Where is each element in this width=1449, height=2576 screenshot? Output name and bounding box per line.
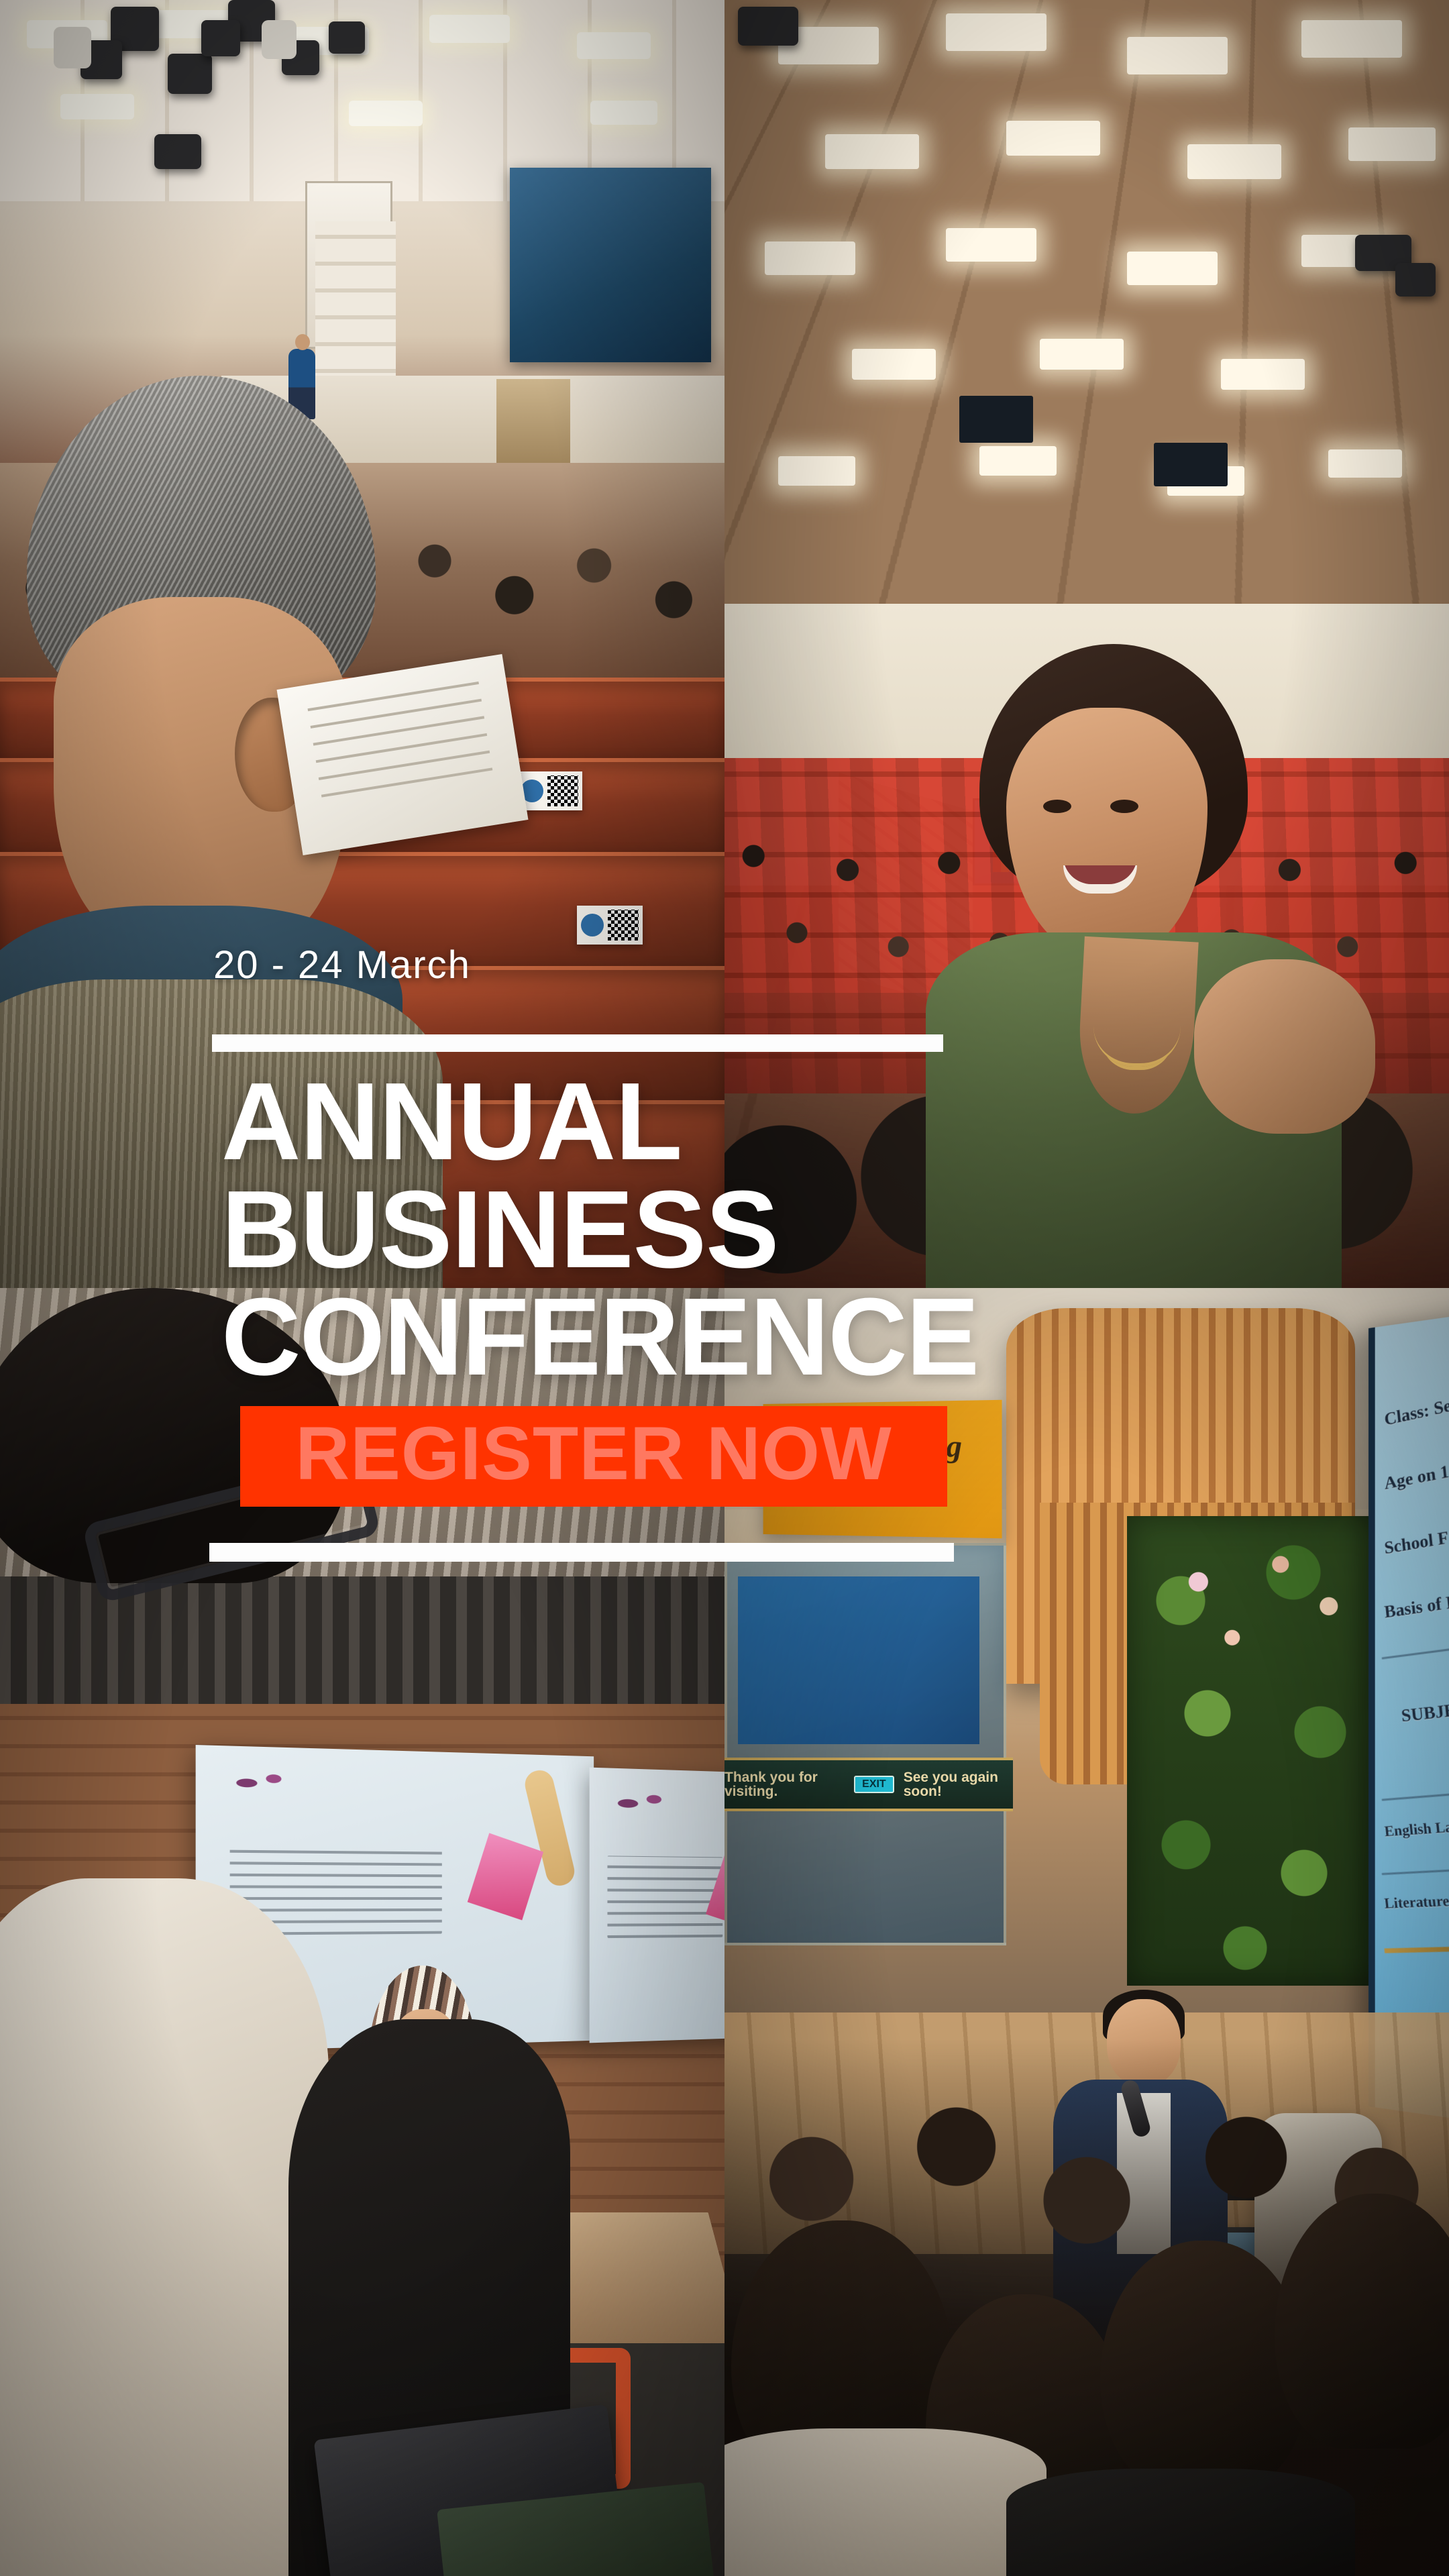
photo-top-right: 00:25:53 [724, 0, 1449, 1288]
printed-programme [277, 654, 529, 855]
info-board: Class: Sec. Age on 1st School Fees Basis… [1368, 1307, 1449, 2127]
exit-sign-icon: EXIT [854, 1776, 894, 1793]
seat-card [577, 906, 643, 945]
info-board-row: Literature [1383, 1893, 1449, 1911]
register-now-label: REGISTER NOW [295, 1416, 892, 1491]
projector-screen-secondary [590, 1768, 724, 2043]
info-board-row: School Fees [1383, 1525, 1449, 1557]
clapping-hands [1194, 959, 1375, 1134]
exit-signage-strip: Thank you for visiting. EXIT See you aga… [724, 1758, 1013, 1811]
stage-screen [510, 168, 711, 362]
exit-strip-left-text: Thank you for visiting. [724, 1770, 845, 1799]
exit-strip-right-text: See you again soon! [904, 1770, 1013, 1799]
info-board-row: English Languag [1384, 1817, 1449, 1839]
info-board-row: Class: Sec. [1383, 1394, 1449, 1429]
conference-poster: 00:25:53 [0, 0, 1449, 2576]
seat-card [517, 771, 582, 810]
photo-collage: 00:25:53 [0, 0, 1449, 2576]
register-now-button[interactable]: REGISTER NOW [240, 1406, 947, 1507]
info-board-row: SUBJEC [1401, 1700, 1449, 1725]
info-board-row: Age on 1st [1383, 1460, 1449, 1493]
info-board-row: Basis of Eli [1383, 1591, 1449, 1621]
photo-top-left [0, 0, 724, 1288]
foreground-attendee-light-shirt [0, 1878, 329, 2576]
